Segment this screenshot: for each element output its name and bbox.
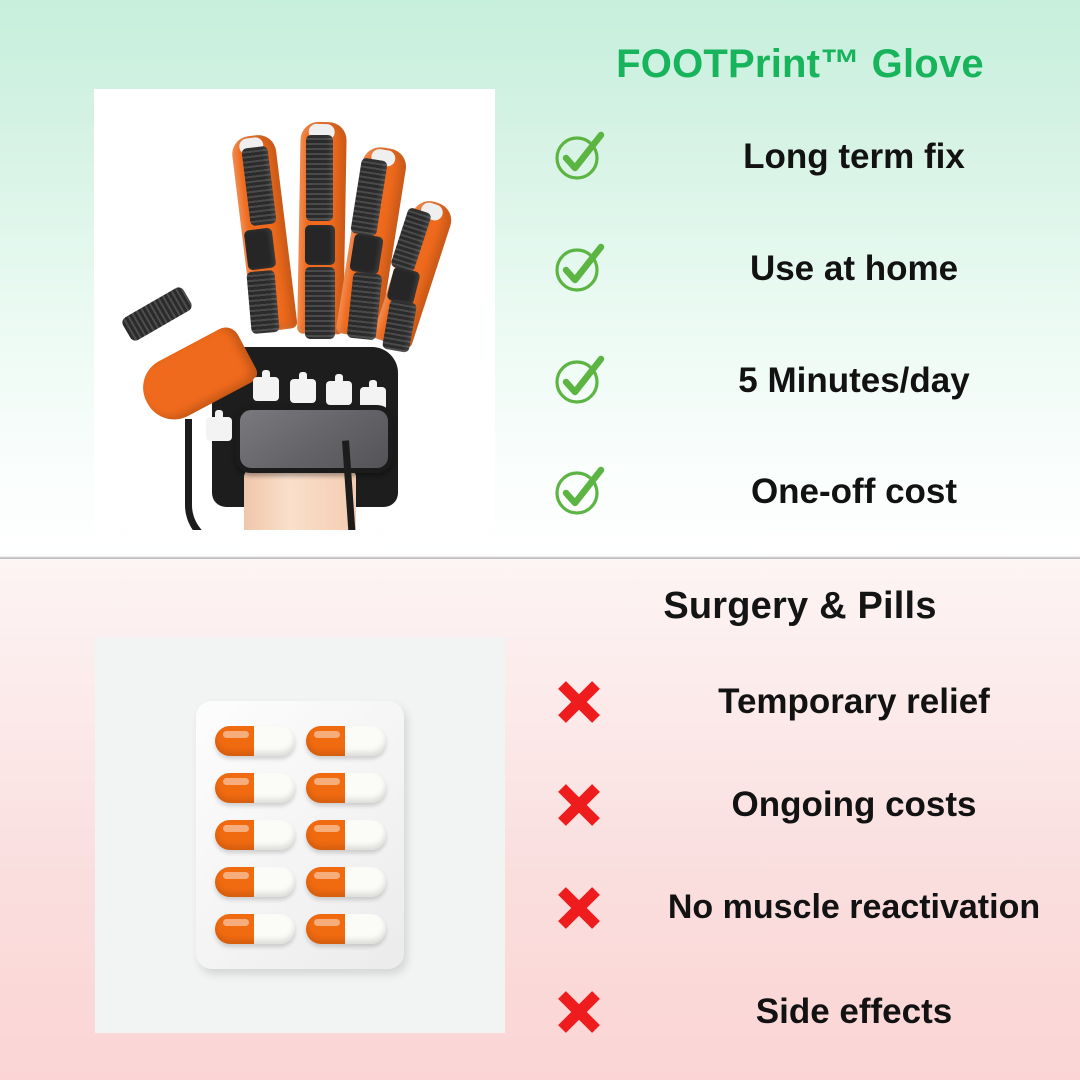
cable-connector [290, 379, 316, 403]
capsule [306, 726, 386, 756]
alternative-text-overlay: Surgery & Pills Temporary relief Ongoing… [520, 0, 1080, 1080]
finger-actuator [305, 267, 335, 339]
glove-illustration [94, 89, 495, 530]
cable-connector [326, 381, 352, 405]
comparison-infographic: FOOTPrint™ Glove Long term fix [0, 0, 1080, 1080]
x-mark-icon [520, 885, 638, 931]
glove-cable-left [185, 419, 259, 530]
capsule [215, 773, 295, 803]
capsule [306, 867, 386, 897]
capsule [306, 820, 386, 850]
capsule [215, 914, 295, 944]
finger-actuator [306, 135, 333, 221]
finger-actuator-joint [244, 227, 277, 270]
alternative-title: Surgery & Pills [520, 585, 1080, 628]
product-media-column [0, 0, 520, 559]
drawback-row: Side effects [520, 983, 1080, 1041]
x-mark-icon [520, 989, 638, 1035]
pills-product-image [95, 637, 505, 1033]
capsule [215, 726, 295, 756]
drawback-label: Side effects [638, 994, 1080, 1031]
capsule [306, 773, 386, 803]
drawback-row: Temporary relief [520, 673, 1080, 731]
x-mark-icon [520, 679, 638, 725]
drawback-label: Ongoing costs [638, 787, 1080, 824]
drawback-label: Temporary relief [638, 684, 1080, 721]
blister-pack [196, 701, 404, 969]
drawback-row: Ongoing costs [520, 776, 1080, 834]
finger-actuator [246, 270, 279, 334]
capsule [215, 867, 295, 897]
drawback-label: No muscle reactivation [638, 890, 1080, 926]
drawback-row: No muscle reactivation [520, 879, 1080, 937]
glove-product-image [94, 89, 495, 530]
finger-actuator-joint [349, 233, 384, 275]
capsule [306, 914, 386, 944]
thumb-actuator [120, 285, 194, 343]
finger-actuator-joint [305, 225, 335, 265]
cable-connector [253, 377, 279, 401]
x-mark-icon [520, 782, 638, 828]
capsule [215, 820, 295, 850]
